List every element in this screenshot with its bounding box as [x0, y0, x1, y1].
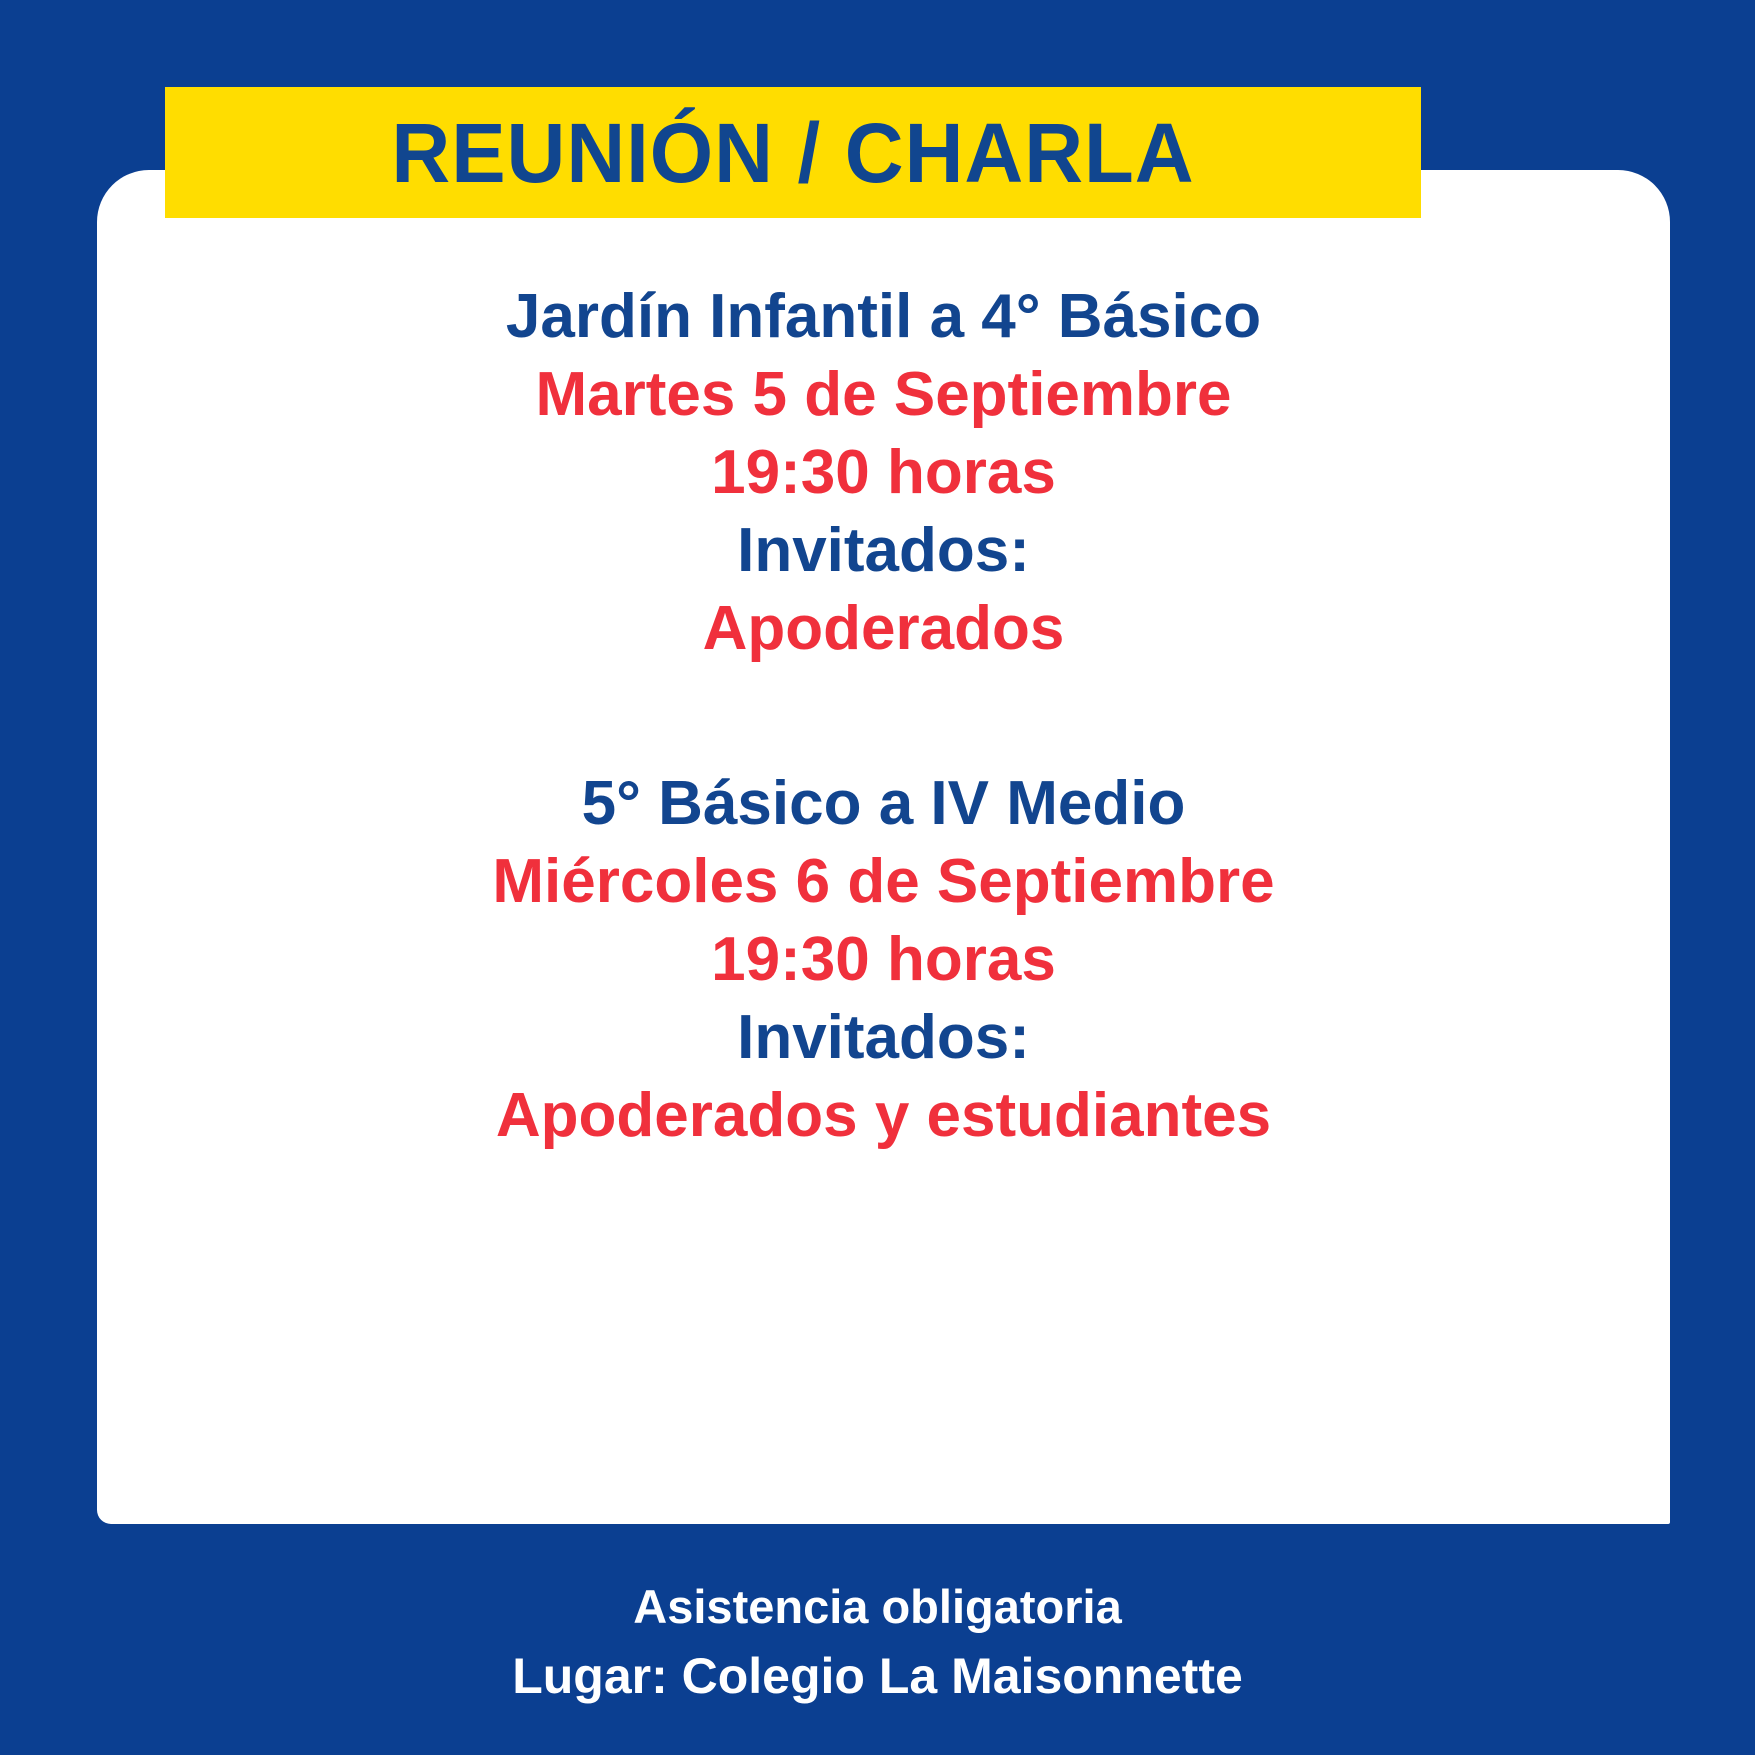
page-title: REUNIÓN / CHARLA — [391, 111, 1194, 195]
section-2-invited-value: Apoderados y estudiantes — [97, 1077, 1670, 1155]
poster-root: REUNIÓN / CHARLA Jardín Infantil a 4° Bá… — [0, 0, 1755, 1755]
card-body: Jardín Infantil a 4° Básico Martes 5 de … — [97, 218, 1670, 1524]
footer: Asistencia obligatoria Lugar: Colegio La… — [0, 1530, 1755, 1755]
section-1-heading: Jardín Infantil a 4° Básico — [97, 278, 1670, 356]
section-2-time: 19:30 horas — [97, 921, 1670, 999]
section-2-invited-label: Invitados: — [97, 999, 1670, 1077]
footer-location: Lugar: Colegio La Maisonnette — [512, 1644, 1243, 1709]
section-2-heading: 5° Básico a IV Medio — [97, 765, 1670, 843]
title-banner: REUNIÓN / CHARLA — [165, 87, 1421, 218]
section-1-date: Martes 5 de Septiembre — [97, 356, 1670, 434]
section-2-date: Miércoles 6 de Septiembre — [97, 843, 1670, 921]
section-1-invited-value: Apoderados — [97, 590, 1670, 668]
footer-attendance-note: Asistencia obligatoria — [633, 1576, 1121, 1637]
section-jardin-a-cuarto-basico: Jardín Infantil a 4° Básico Martes 5 de … — [97, 278, 1670, 669]
section-quinto-basico-a-cuarto-medio: 5° Básico a IV Medio Miércoles 6 de Sept… — [97, 765, 1670, 1156]
section-1-time: 19:30 horas — [97, 434, 1670, 512]
section-1-invited-label: Invitados: — [97, 512, 1670, 590]
